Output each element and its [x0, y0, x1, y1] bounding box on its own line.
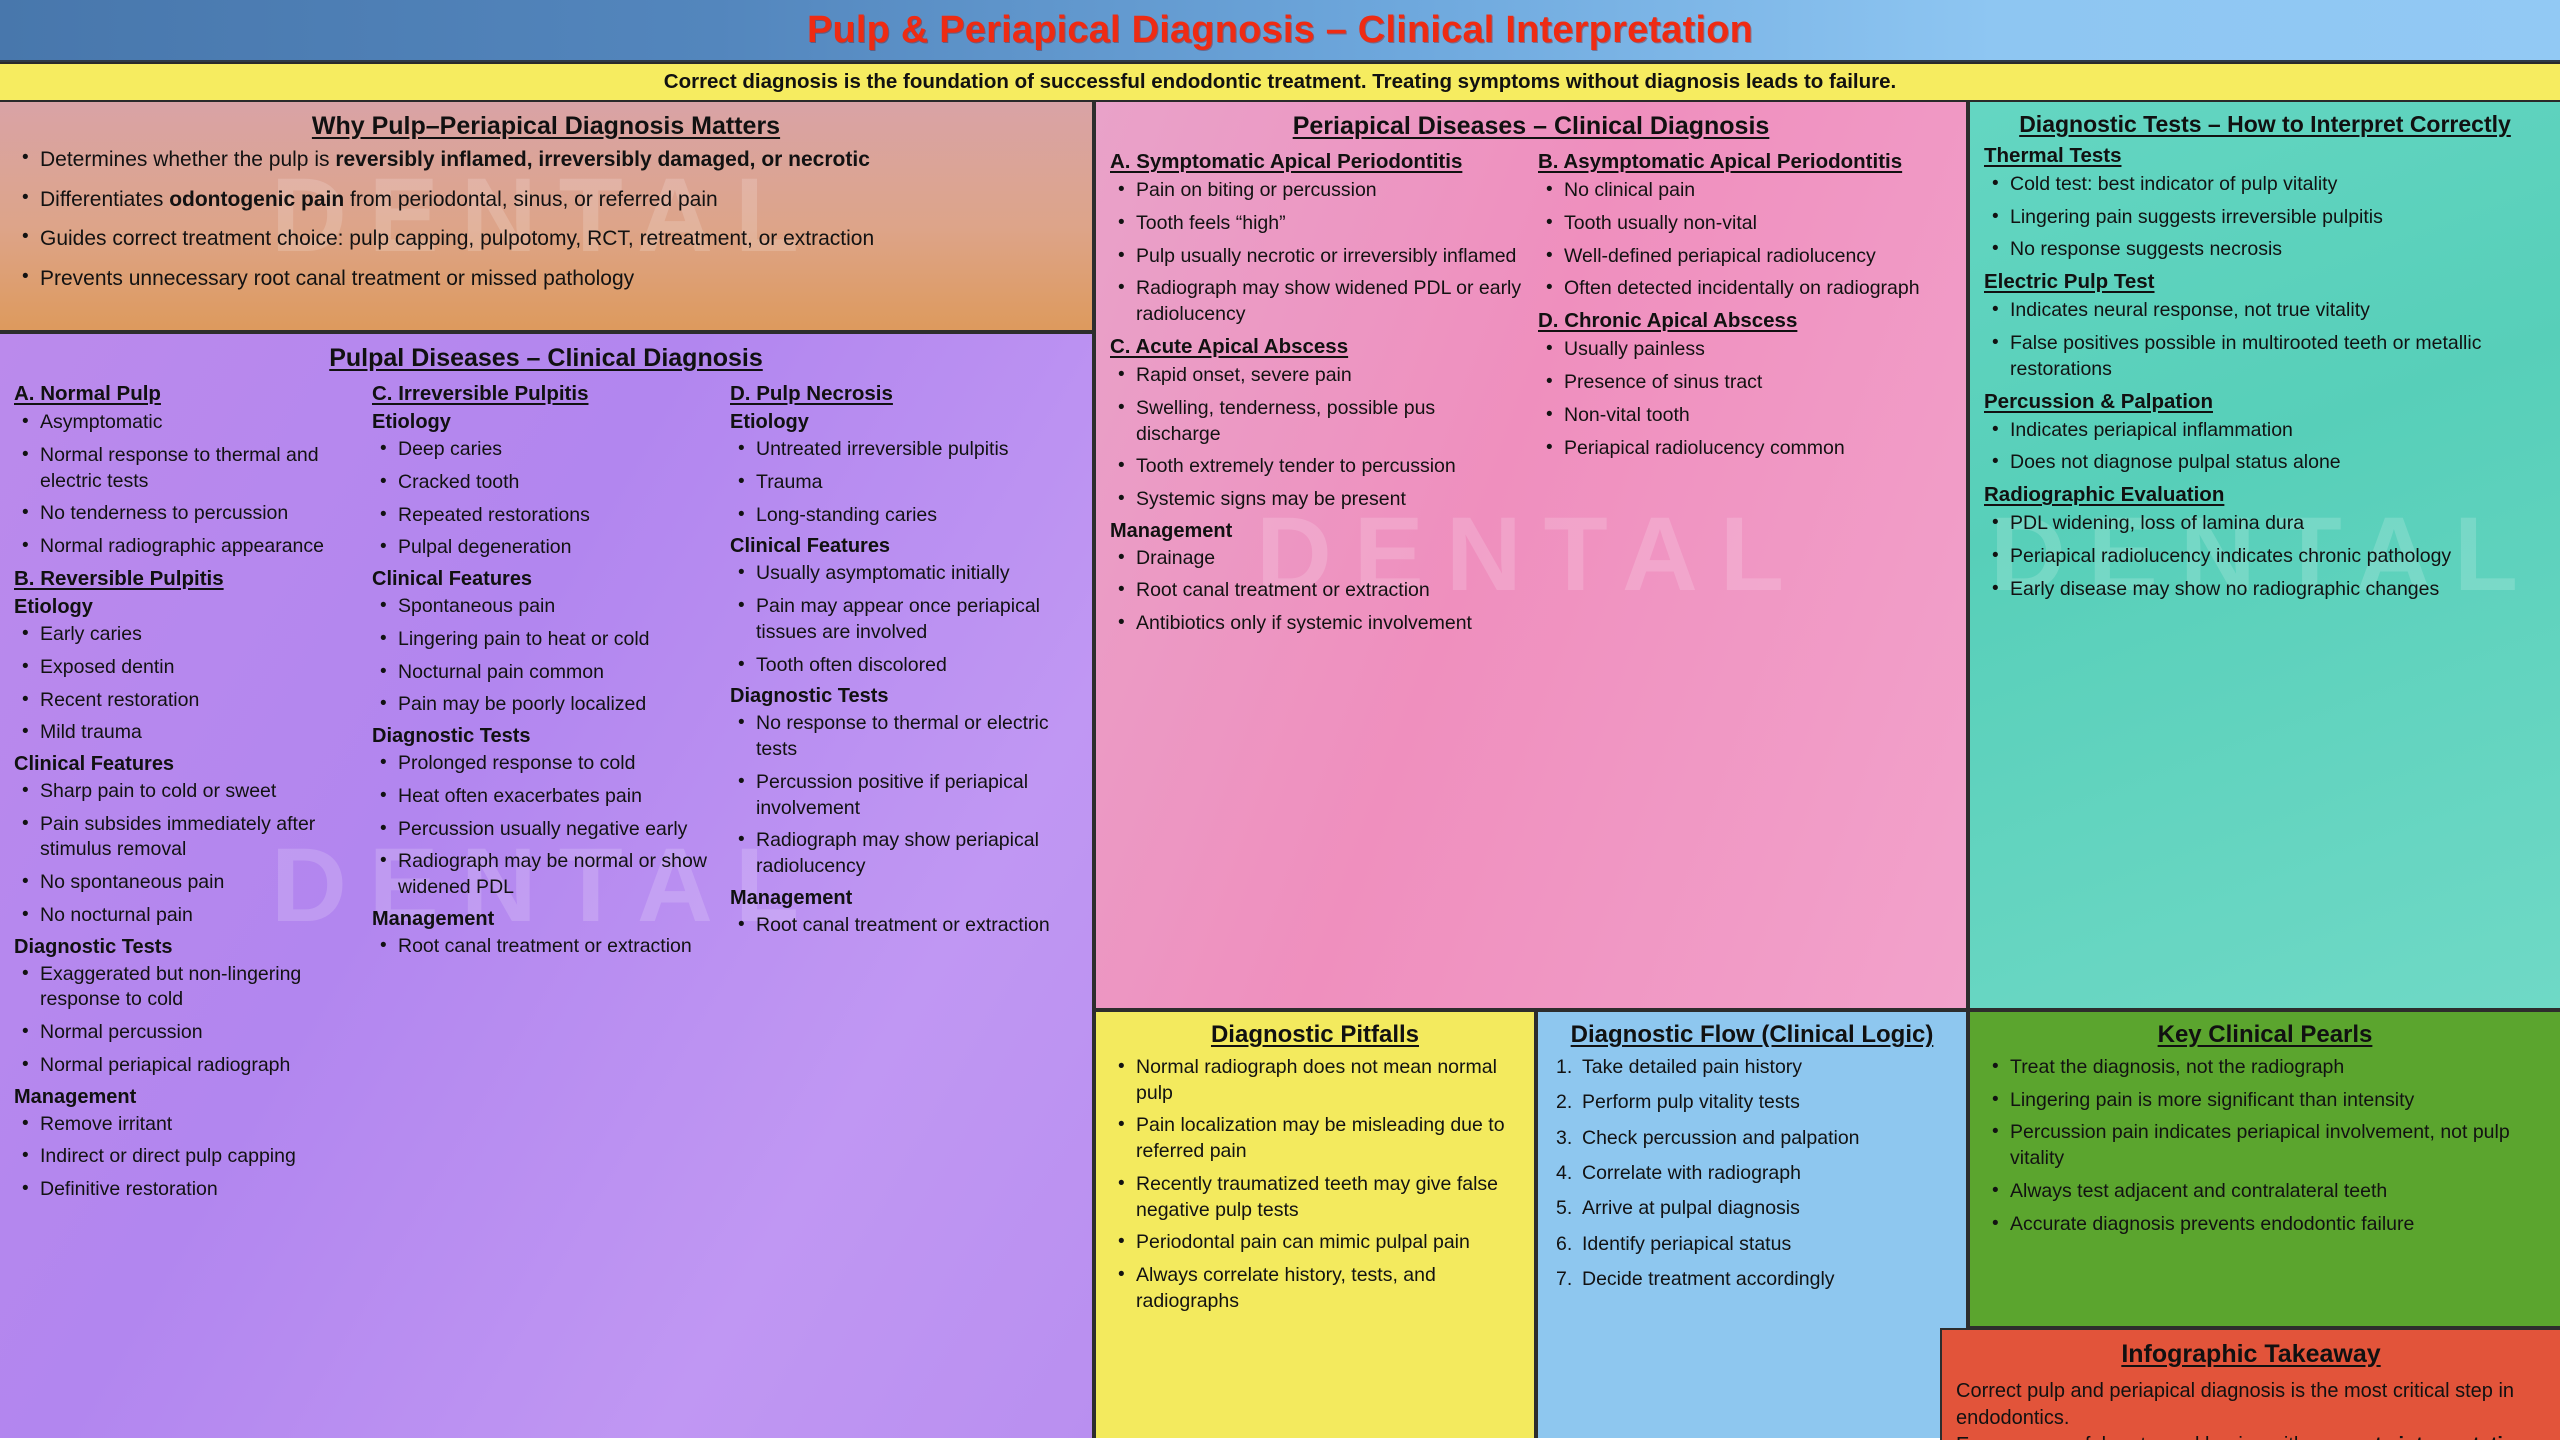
panel-infographic-takeaway: Infographic Takeaway Correct pulp and pe…	[1940, 1328, 2560, 1440]
pulpal-panel-title: Pulpal Diseases – Clinical Diagnosis	[14, 344, 1078, 372]
list-item: Always correlate history, tests, and rad…	[1110, 1263, 1520, 1314]
symptomatic-ap-heading: A. Symptomatic Apical Periodontitis	[1110, 150, 1524, 174]
acute-abscess-mgmt-list: DrainageRoot canal treatment or extracti…	[1110, 546, 1524, 637]
rev-etiology-list: Early cariesExposed dentinRecent restora…	[14, 622, 362, 746]
panel-diagnostic-tests: DENTAL Diagnostic Tests – How to Interpr…	[1968, 102, 2560, 1010]
list-item: Pulp usually necrotic or irreversibly in…	[1110, 244, 1524, 270]
irreversible-pulpitis-heading: C. Irreversible Pulpitis	[372, 382, 720, 406]
list-item: PDL widening, loss of lamina dura	[1984, 511, 2546, 537]
list-item: No response to thermal or electric tests	[730, 711, 1078, 762]
flow-steps-list: Take detailed pain historyPerform pulp v…	[1552, 1055, 1952, 1292]
rev-mgmt-label: Management	[14, 1086, 362, 1109]
nec-features-list: Usually asymptomatic initiallyPain may a…	[730, 561, 1078, 678]
irr-etiology-list: Deep cariesCracked toothRepeated restora…	[372, 437, 720, 561]
pearls-panel-title: Key Clinical Pearls	[1984, 1022, 2546, 1049]
list-item: Indicates neural response, not true vita…	[1984, 298, 2546, 324]
takeaway-line-2: Every successful root canal begins with …	[1956, 1432, 2546, 1440]
test-group: Electric Pulp TestIndicates neural respo…	[1984, 270, 2546, 382]
normal-pulp-list: AsymptomaticNormal response to thermal a…	[14, 410, 362, 560]
list-item: Prolonged response to cold	[372, 751, 720, 777]
pulpal-column-3: D. Pulp Necrosis Etiology Untreated irre…	[730, 378, 1078, 1210]
list-item: Systemic signs may be present	[1110, 487, 1524, 513]
irr-tests-list: Prolonged response to coldHeat often exa…	[372, 751, 720, 901]
list-item: Root canal treatment or extraction	[372, 934, 720, 960]
list-item: Check percussion and palpation	[1552, 1126, 1952, 1151]
list-item: Tooth extremely tender to percussion	[1110, 454, 1524, 480]
test-group-heading: Electric Pulp Test	[1984, 270, 2546, 294]
pulpal-column-1: A. Normal Pulp AsymptomaticNormal respon…	[14, 378, 362, 1210]
body-area: DENTAL Why Pulp–Periapical Diagnosis Mat…	[0, 102, 2560, 1440]
acute-apical-abscess-heading: C. Acute Apical Abscess	[1110, 335, 1524, 359]
list-item: Tooth feels “high”	[1110, 211, 1524, 237]
list-item: Pulpal degeneration	[372, 535, 720, 561]
list-item: Determines whether the pulp is reversibl…	[14, 146, 1078, 174]
list-item: Well-defined periapical radiolucency	[1538, 244, 1952, 270]
list-item: Take detailed pain history	[1552, 1055, 1952, 1080]
list-item: Radiograph may be normal or show widened…	[372, 849, 720, 900]
list-item: Drainage	[1110, 546, 1524, 572]
list-item: Lingering pain is more significant than …	[1984, 1088, 2546, 1114]
irr-mgmt-list: Root canal treatment or extraction	[372, 934, 720, 960]
irr-mgmt-label: Management	[372, 908, 720, 931]
list-item: No nocturnal pain	[14, 903, 362, 929]
pitfalls-panel-title: Diagnostic Pitfalls	[1110, 1022, 1520, 1049]
list-item: Percussion pain indicates periapical inv…	[1984, 1120, 2546, 1171]
reversible-pulpitis-heading: B. Reversible Pulpitis	[14, 567, 362, 591]
periapical-panel-title: Periapical Diseases – Clinical Diagnosis	[1110, 112, 1952, 140]
list-item: Radiograph may show widened PDL or early…	[1110, 276, 1524, 327]
test-group: Radiographic EvaluationPDL widening, los…	[1984, 483, 2546, 602]
list-item: Pain may be poorly localized	[372, 692, 720, 718]
list-item: Sharp pain to cold or sweet	[14, 779, 362, 805]
list-item: Decide treatment accordingly	[1552, 1267, 1952, 1292]
nec-mgmt-label: Management	[730, 887, 1078, 910]
list-item: Early disease may show no radiographic c…	[1984, 577, 2546, 603]
list-item: Periodontal pain can mimic pulpal pain	[1110, 1230, 1520, 1256]
list-item: Usually asymptomatic initially	[730, 561, 1078, 587]
pulp-necrosis-heading: D. Pulp Necrosis	[730, 382, 1078, 406]
nec-tests-list: No response to thermal or electric tests…	[730, 711, 1078, 879]
rev-etiology-label: Etiology	[14, 596, 362, 619]
list-item: Perform pulp vitality tests	[1552, 1090, 1952, 1115]
rev-features-label: Clinical Features	[14, 753, 362, 776]
list-item: Treat the diagnosis, not the radiograph	[1984, 1055, 2546, 1081]
list-item: Exposed dentin	[14, 655, 362, 681]
why-list: Determines whether the pulp is reversibl…	[14, 146, 1078, 293]
list-item: Early caries	[14, 622, 362, 648]
list-item: Normal radiograph does not mean normal p…	[1110, 1055, 1520, 1106]
list-item: Mild trauma	[14, 720, 362, 746]
chronic-apical-abscess-list: Usually painlessPresence of sinus tractN…	[1538, 337, 1952, 461]
list-item: False positives possible in multirooted …	[1984, 331, 2546, 382]
list-item: Pain may appear once periapical tissues …	[730, 594, 1078, 645]
panel-diagnostic-flow: Diagnostic Flow (Clinical Logic) Take de…	[1536, 1010, 1968, 1438]
list-item: Spontaneous pain	[372, 594, 720, 620]
list-item: Indicates periapical inflammation	[1984, 418, 2546, 444]
list-item: Deep caries	[372, 437, 720, 463]
panel-diagnostic-pitfalls: Diagnostic Pitfalls Normal radiograph do…	[1094, 1010, 1536, 1438]
tests-groups: Thermal TestsCold test: best indicator o…	[1984, 144, 2546, 603]
infographic-root: Pulp & Periapical Diagnosis – Clinical I…	[0, 0, 2560, 1440]
test-group-heading: Radiographic Evaluation	[1984, 483, 2546, 507]
list-item: Definitive restoration	[14, 1177, 362, 1203]
asymptomatic-ap-list: No clinical painTooth usually non-vitalW…	[1538, 178, 1952, 302]
header-bar: Pulp & Periapical Diagnosis – Clinical I…	[0, 0, 2560, 62]
irr-tests-label: Diagnostic Tests	[372, 725, 720, 748]
irr-etiology-label: Etiology	[372, 411, 720, 434]
periapical-column-1: A. Symptomatic Apical Periodontitis Pain…	[1110, 146, 1524, 644]
list-item: Usually painless	[1538, 337, 1952, 363]
acute-apical-abscess-list: Rapid onset, severe painSwelling, tender…	[1110, 363, 1524, 513]
rev-mgmt-list: Remove irritantIndirect or direct pulp c…	[14, 1112, 362, 1203]
subtitle-bar: Correct diagnosis is the foundation of s…	[0, 62, 2560, 102]
nec-features-label: Clinical Features	[730, 535, 1078, 558]
test-group-list: Indicates neural response, not true vita…	[1984, 298, 2546, 382]
list-item: Tooth usually non-vital	[1538, 211, 1952, 237]
list-item: Guides correct treatment choice: pulp ca…	[14, 225, 1078, 253]
list-item: Normal response to thermal and electric …	[14, 443, 362, 494]
acute-abscess-mgmt-label: Management	[1110, 520, 1524, 543]
irr-features-list: Spontaneous painLingering pain to heat o…	[372, 594, 720, 718]
list-item: Antibiotics only if systemic involvement	[1110, 611, 1524, 637]
list-item: Cracked tooth	[372, 470, 720, 496]
list-item: No spontaneous pain	[14, 870, 362, 896]
list-item: Pain on biting or percussion	[1110, 178, 1524, 204]
list-item: Arrive at pulpal diagnosis	[1552, 1196, 1952, 1221]
list-item: Normal percussion	[14, 1020, 362, 1046]
list-item: Heat often exacerbates pain	[372, 784, 720, 810]
list-item: Rapid onset, severe pain	[1110, 363, 1524, 389]
list-item: Indirect or direct pulp capping	[14, 1144, 362, 1170]
list-item: Prevents unnecessary root canal treatmen…	[14, 265, 1078, 293]
irr-features-label: Clinical Features	[372, 568, 720, 591]
list-item: Presence of sinus tract	[1538, 370, 1952, 396]
list-item: Exaggerated but non-lingering response t…	[14, 962, 362, 1013]
page-title: Pulp & Periapical Diagnosis – Clinical I…	[807, 9, 1753, 52]
takeaway-line-1: Correct pulp and periapical diagnosis is…	[1956, 1378, 2546, 1432]
list-item: No response suggests necrosis	[1984, 237, 2546, 263]
list-item: Differentiates odontogenic pain from per…	[14, 186, 1078, 214]
list-item: No tenderness to percussion	[14, 501, 362, 527]
list-item: Often detected incidentally on radiograp…	[1538, 276, 1952, 302]
list-item: Lingering pain to heat or cold	[372, 627, 720, 653]
list-item: Percussion positive if periapical involv…	[730, 770, 1078, 821]
pitfalls-list: Normal radiograph does not mean normal p…	[1110, 1055, 1520, 1315]
rev-tests-label: Diagnostic Tests	[14, 936, 362, 959]
list-item: Asymptomatic	[14, 410, 362, 436]
panel-periapical-diseases: DENTAL Periapical Diseases – Clinical Di…	[1094, 102, 1968, 1010]
list-item: Radiograph may show periapical radioluce…	[730, 828, 1078, 879]
list-item: Recent restoration	[14, 688, 362, 714]
test-group: Thermal TestsCold test: best indicator o…	[1984, 144, 2546, 263]
list-item: Identify periapical status	[1552, 1232, 1952, 1257]
asymptomatic-ap-heading: B. Asymptomatic Apical Periodontitis	[1538, 150, 1952, 174]
normal-pulp-heading: A. Normal Pulp	[14, 382, 362, 406]
nec-tests-label: Diagnostic Tests	[730, 685, 1078, 708]
test-group-heading: Percussion & Palpation	[1984, 390, 2546, 414]
list-item: Repeated restorations	[372, 503, 720, 529]
pearls-list: Treat the diagnosis, not the radiographL…	[1984, 1055, 2546, 1237]
list-item: Swelling, tenderness, possible pus disch…	[1110, 396, 1524, 447]
list-item: Always test adjacent and contralateral t…	[1984, 1179, 2546, 1205]
test-group-heading: Thermal Tests	[1984, 144, 2546, 168]
list-item: Remove irritant	[14, 1112, 362, 1138]
periapical-column-2: B. Asymptomatic Apical Periodontitis No …	[1538, 146, 1952, 644]
list-item: Pain localization may be misleading due …	[1110, 1113, 1520, 1164]
list-item: Nocturnal pain common	[372, 660, 720, 686]
list-item: Non-vital tooth	[1538, 403, 1952, 429]
test-group-list: PDL widening, loss of lamina duraPeriapi…	[1984, 511, 2546, 602]
takeaway-panel-title: Infographic Takeaway	[1956, 1340, 2546, 1368]
test-group-list: Cold test: best indicator of pulp vitali…	[1984, 172, 2546, 263]
list-item: Long-standing caries	[730, 503, 1078, 529]
test-group-list: Indicates periapical inflammationDoes no…	[1984, 418, 2546, 476]
list-item: Periapical radiolucency indicates chroni…	[1984, 544, 2546, 570]
list-item: No clinical pain	[1538, 178, 1952, 204]
list-item: Pain subsides immediately after stimulus…	[14, 812, 362, 863]
nec-mgmt-list: Root canal treatment or extraction	[730, 913, 1078, 939]
list-item: Lingering pain suggests irreversible pul…	[1984, 205, 2546, 231]
why-panel-title: Why Pulp–Periapical Diagnosis Matters	[14, 112, 1078, 140]
pulpal-column-2: C. Irreversible Pulpitis Etiology Deep c…	[372, 378, 720, 1210]
list-item: Untreated irreversible pulpitis	[730, 437, 1078, 463]
panel-key-clinical-pearls: Key Clinical Pearls Treat the diagnosis,…	[1968, 1010, 2560, 1328]
list-item: Root canal treatment or extraction	[1110, 578, 1524, 604]
panel-why-diagnosis-matters: DENTAL Why Pulp–Periapical Diagnosis Mat…	[0, 102, 1094, 332]
flow-panel-title: Diagnostic Flow (Clinical Logic)	[1552, 1022, 1952, 1049]
list-item: Accurate diagnosis prevents endodontic f…	[1984, 1212, 2546, 1238]
list-item: Normal radiographic appearance	[14, 534, 362, 560]
list-item: Does not diagnose pulpal status alone	[1984, 450, 2546, 476]
list-item: Cold test: best indicator of pulp vitali…	[1984, 172, 2546, 198]
list-item: Recently traumatized teeth may give fals…	[1110, 1172, 1520, 1223]
list-item: Tooth often discolored	[730, 653, 1078, 679]
list-item: Correlate with radiograph	[1552, 1161, 1952, 1186]
nec-etiology-label: Etiology	[730, 411, 1078, 434]
list-item: Root canal treatment or extraction	[730, 913, 1078, 939]
list-item: Trauma	[730, 470, 1078, 496]
test-group: Percussion & PalpationIndicates periapic…	[1984, 390, 2546, 477]
panel-pulpal-diseases: DENTAL Pulpal Diseases – Clinical Diagno…	[0, 332, 1094, 1438]
rev-features-list: Sharp pain to cold or sweetPain subsides…	[14, 779, 362, 929]
chronic-apical-abscess-heading: D. Chronic Apical Abscess	[1538, 309, 1952, 333]
rev-tests-list: Exaggerated but non-lingering response t…	[14, 962, 362, 1079]
tests-panel-title: Diagnostic Tests – How to Interpret Corr…	[1984, 112, 2546, 138]
nec-etiology-list: Untreated irreversible pulpitisTraumaLon…	[730, 437, 1078, 528]
subtitle-text: Correct diagnosis is the foundation of s…	[664, 70, 1896, 94]
list-item: Percussion usually negative early	[372, 817, 720, 843]
list-item: Normal periapical radiograph	[14, 1053, 362, 1079]
list-item: Periapical radiolucency common	[1538, 436, 1952, 462]
symptomatic-ap-list: Pain on biting or percussionTooth feels …	[1110, 178, 1524, 328]
